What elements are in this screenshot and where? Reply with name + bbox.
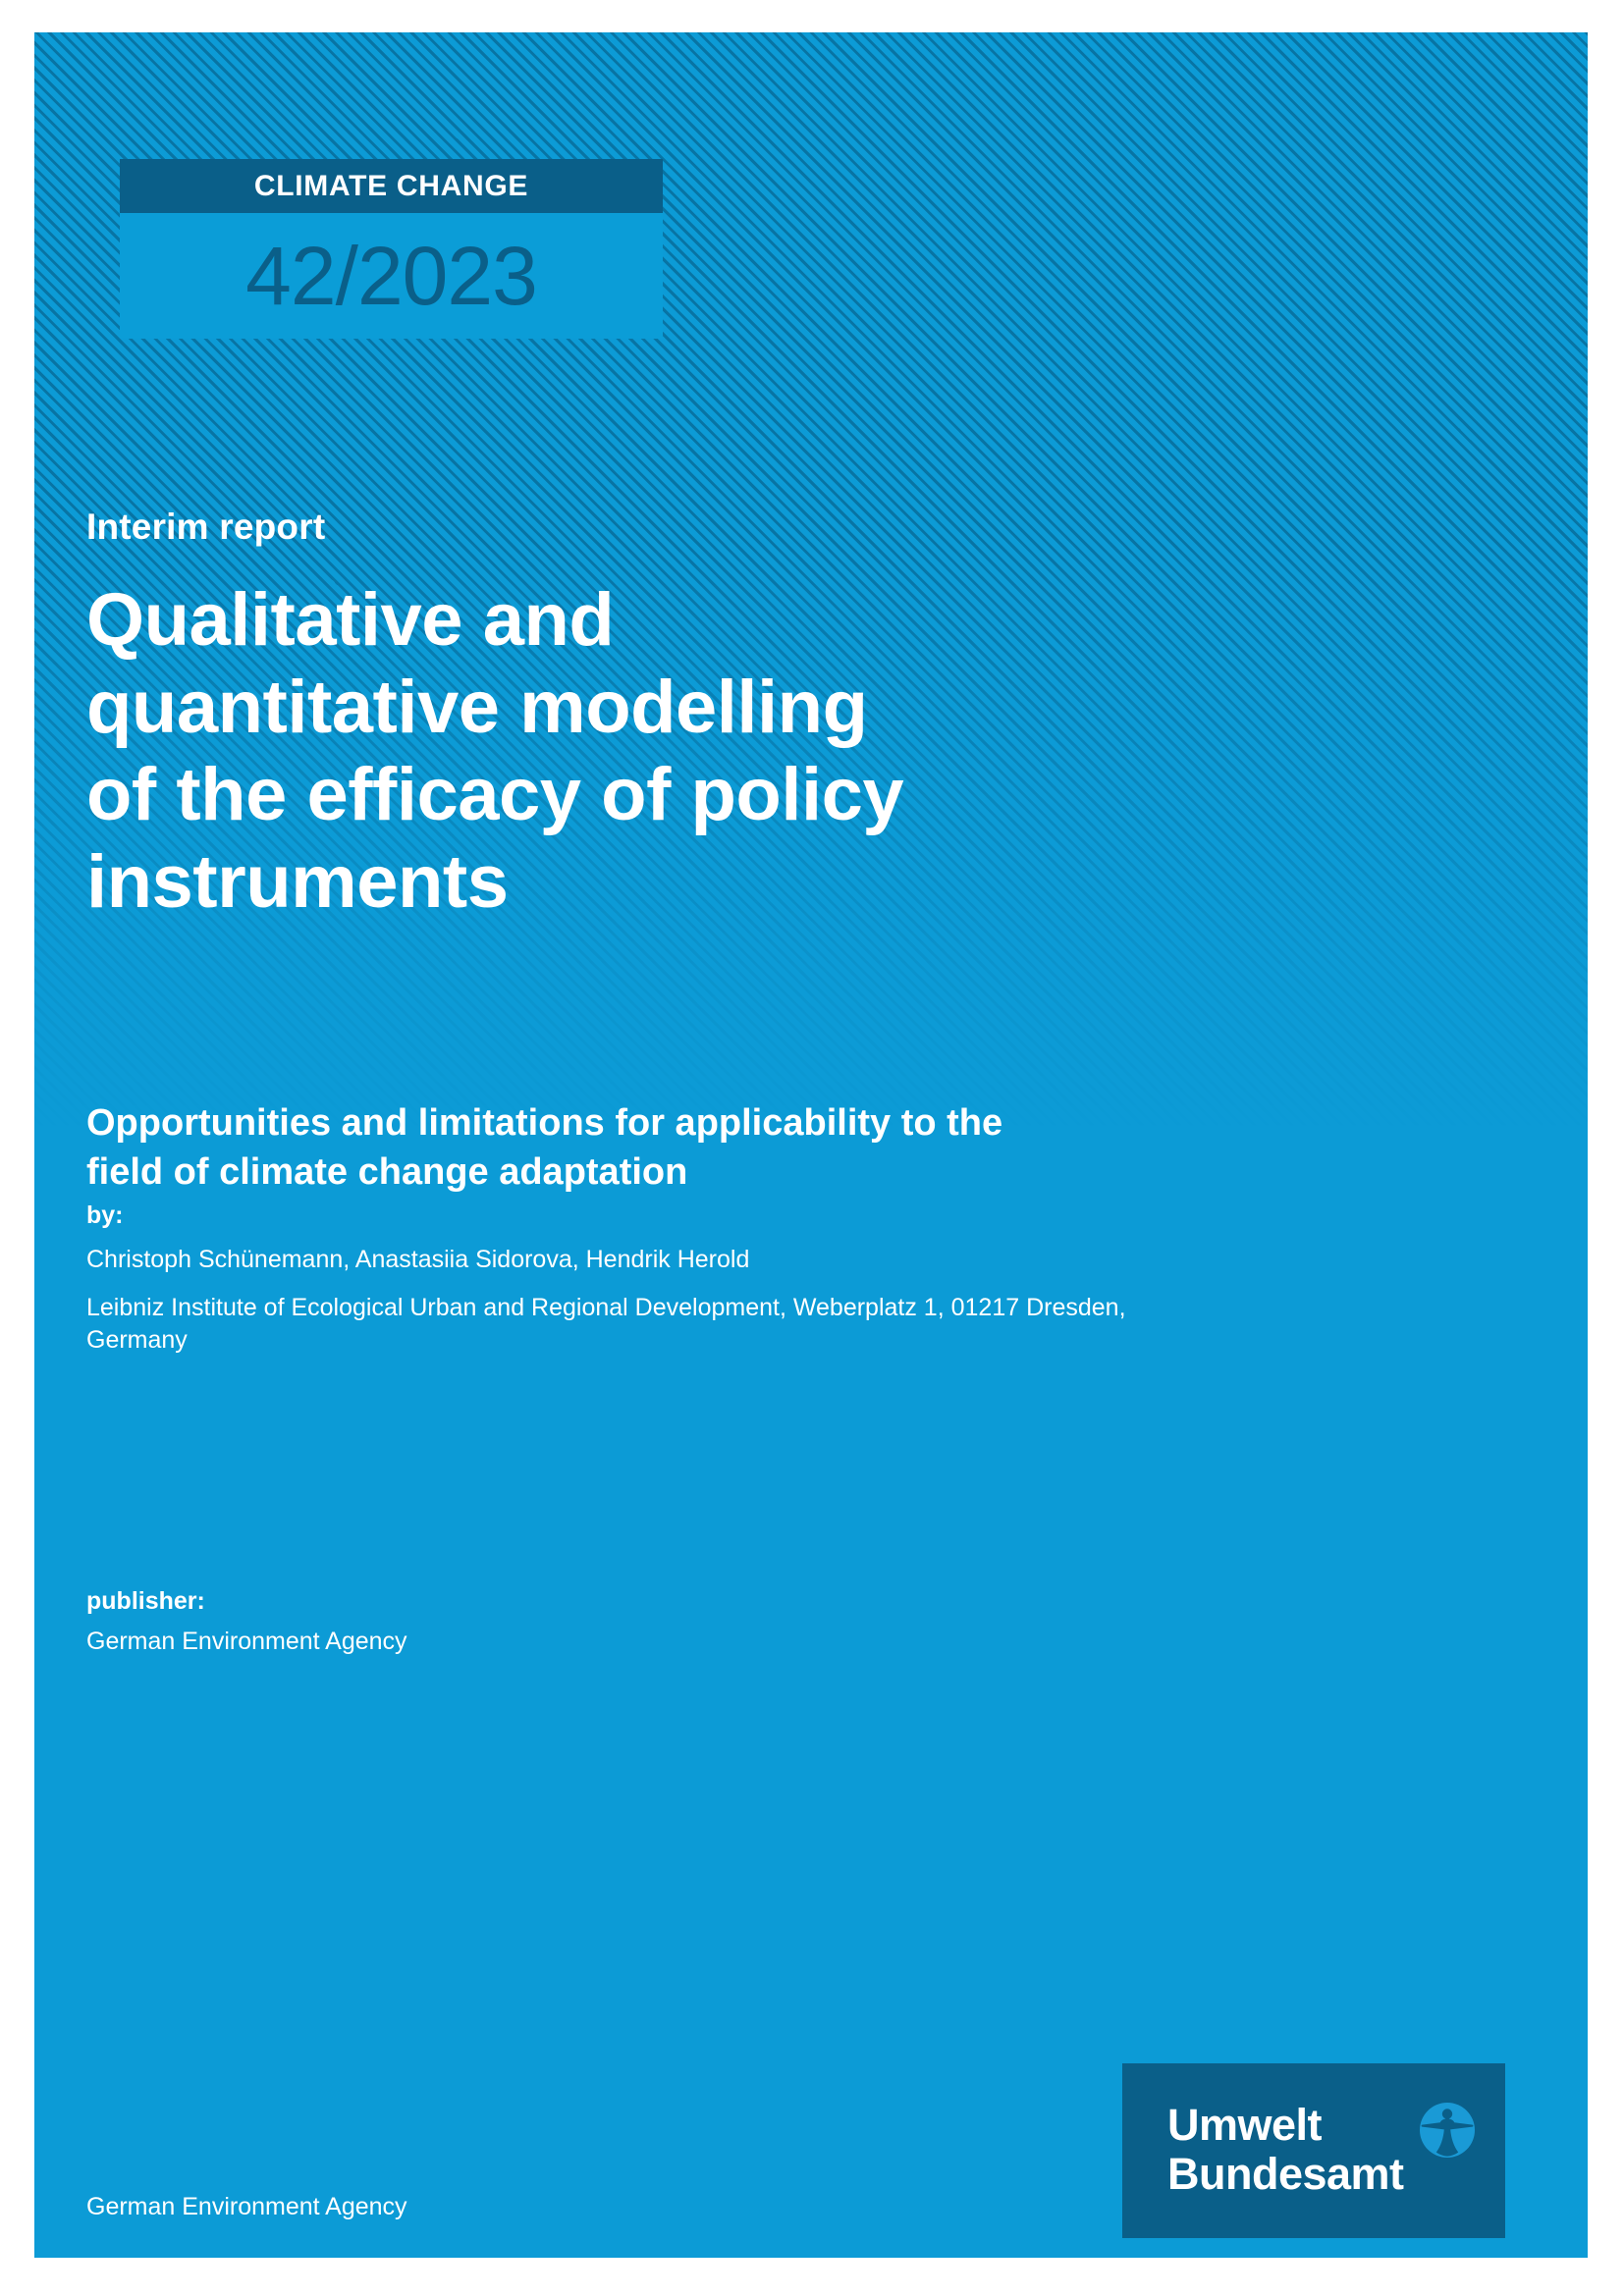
- paper-bottom-margin: [0, 2258, 1624, 2296]
- logo-content: Umwelt Bundesamt: [1167, 2101, 1472, 2209]
- footer-agency-name: German Environment Agency: [86, 2193, 407, 2221]
- uba-figure-emblem-icon: [1420, 2103, 1475, 2158]
- series-issue-number: 42/2023: [245, 235, 537, 317]
- page-subtitle: Opportunities and limitations for applic…: [86, 1098, 1392, 1197]
- title-line-4: instruments: [86, 839, 1392, 927]
- page-title: Qualitative and quantitative modelling o…: [86, 577, 1392, 927]
- publisher-name: German Environment Agency: [86, 1628, 407, 1656]
- series-label: CLIMATE CHANGE: [254, 170, 528, 203]
- title-line-2: quantitative modelling: [86, 665, 1392, 752]
- affiliation-line-1: Leibniz Institute of Ecological Urban an…: [86, 1292, 1382, 1324]
- author-list: Christoph Schünemann, Anastasiia Sidorov…: [86, 1246, 749, 1274]
- by-label: by:: [86, 1201, 124, 1230]
- title-line-1: Qualitative and: [86, 577, 1392, 665]
- series-badge-header: CLIMATE CHANGE: [120, 159, 663, 213]
- subtitle-line-2: field of climate change adaptation: [86, 1148, 1392, 1197]
- series-badge: CLIMATE CHANGE 42/2023: [120, 159, 663, 339]
- series-badge-body: 42/2023: [120, 213, 663, 339]
- cover-color-panel: CLIMATE CHANGE 42/2023 Interim report Qu…: [34, 32, 1588, 2258]
- title-line-3: of the efficacy of policy: [86, 752, 1392, 839]
- publisher-label: publisher:: [86, 1587, 205, 1616]
- paper-right-margin: [1588, 0, 1624, 2296]
- report-type-kicker: Interim report: [86, 507, 325, 548]
- affiliation-line-2: Germany: [86, 1324, 1382, 1357]
- author-affiliation: Leibniz Institute of Ecological Urban an…: [86, 1292, 1382, 1358]
- cover-page: CLIMATE CHANGE 42/2023 Interim report Qu…: [0, 0, 1624, 2296]
- umweltbundesamt-logo: Umwelt Bundesamt: [1122, 2063, 1505, 2238]
- subtitle-line-1: Opportunities and limitations for applic…: [86, 1098, 1392, 1148]
